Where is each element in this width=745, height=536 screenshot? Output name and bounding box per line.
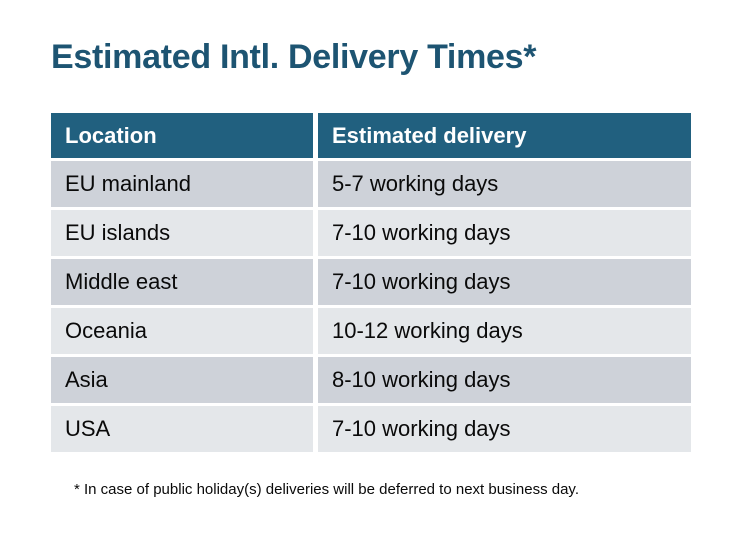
table-row: Asia 8-10 working days	[51, 357, 691, 403]
table-row: EU mainland 5-7 working days	[51, 161, 691, 207]
table-row: USA 7-10 working days	[51, 406, 691, 452]
cell-estimated-delivery: 7-10 working days	[318, 210, 691, 256]
footnote-text: * In case of public holiday(s) deliverie…	[74, 481, 579, 498]
table-row: EU islands 7-10 working days	[51, 210, 691, 256]
cell-estimated-delivery: 10-12 working days	[318, 308, 691, 354]
delivery-times-page: Estimated Intl. Delivery Times* Location…	[0, 0, 745, 536]
cell-location: Middle east	[51, 259, 313, 305]
cell-location: USA	[51, 406, 313, 452]
table-row: Middle east 7-10 working days	[51, 259, 691, 305]
cell-estimated-delivery: 8-10 working days	[318, 357, 691, 403]
cell-estimated-delivery: 7-10 working days	[318, 406, 691, 452]
table-header-row: Location Estimated delivery	[51, 113, 691, 158]
column-header-location: Location	[51, 113, 313, 158]
cell-estimated-delivery: 5-7 working days	[318, 161, 691, 207]
cell-location: Asia	[51, 357, 313, 403]
column-header-estimated-delivery: Estimated delivery	[318, 113, 691, 158]
estimated-delivery-times-table: Location Estimated delivery EU mainland …	[51, 113, 691, 455]
cell-location: Oceania	[51, 308, 313, 354]
table-row: Oceania 10-12 working days	[51, 308, 691, 354]
cell-location: EU mainland	[51, 161, 313, 207]
cell-estimated-delivery: 7-10 working days	[318, 259, 691, 305]
cell-location: EU islands	[51, 210, 313, 256]
page-title: Estimated Intl. Delivery Times*	[51, 38, 536, 77]
